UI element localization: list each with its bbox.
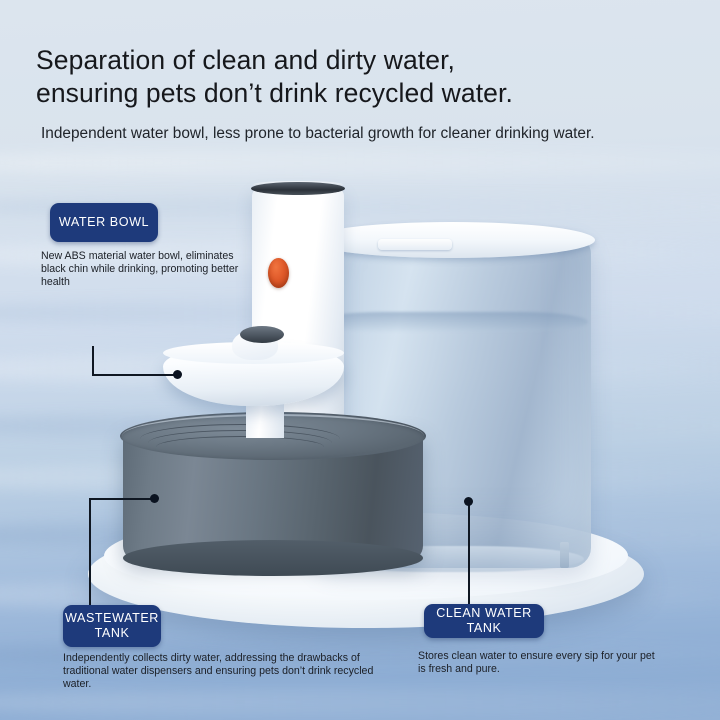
clean-tank-lid bbox=[309, 222, 595, 258]
leader-clean-dot bbox=[464, 497, 473, 506]
clean-tank-waterline bbox=[316, 312, 588, 332]
clean-tank-leg-right bbox=[560, 542, 569, 568]
leader-water-bowl-vertical bbox=[92, 346, 94, 376]
leader-wastewater-vertical bbox=[89, 498, 91, 606]
water-bowl-spout-cap bbox=[240, 326, 284, 343]
power-button[interactable] bbox=[268, 258, 289, 288]
clean-tank-lid-tab bbox=[378, 239, 452, 250]
description-wastewater-tank: Independently collects dirty water, addr… bbox=[63, 652, 375, 692]
leader-wastewater-horizontal bbox=[89, 498, 157, 500]
description-clean-water-tank: Stores clean water to ensure every sip f… bbox=[418, 650, 658, 676]
product-infographic: Separation of clean and dirty water, ens… bbox=[0, 0, 720, 720]
badge-clean-water-tank[interactable]: CLEAN WATER TANK bbox=[424, 604, 544, 638]
leader-wastewater-dot bbox=[150, 494, 159, 503]
description-water-bowl: New ABS material water bowl, eliminates … bbox=[41, 250, 251, 290]
wastewater-tank-bottom bbox=[123, 540, 423, 576]
badge-water-bowl[interactable]: WATER BOWL bbox=[50, 203, 158, 242]
pump-column-cap bbox=[251, 182, 345, 195]
wastewater-groove-3 bbox=[156, 436, 324, 458]
leader-water-bowl-dot bbox=[173, 370, 182, 379]
leader-water-bowl-horizontal bbox=[92, 374, 180, 376]
leader-clean-vertical bbox=[468, 501, 470, 605]
badge-wastewater-tank[interactable]: WASTEWATER TANK bbox=[63, 605, 161, 647]
